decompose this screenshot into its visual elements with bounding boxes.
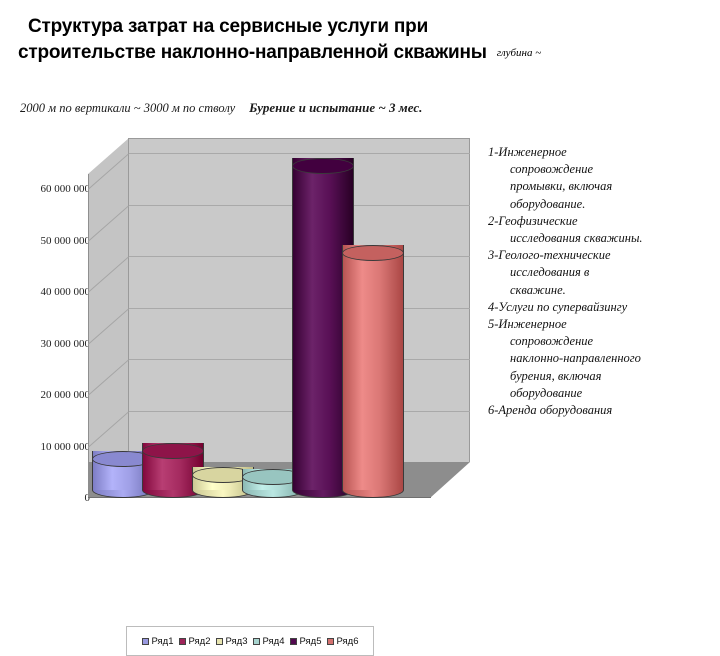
plot-area [88, 138, 470, 498]
subtitle-duration-text: Бурение и испытание ~ 3 мес. [235, 100, 422, 115]
note-line-14: бурения, включая [488, 368, 720, 385]
note-line-16: 6-Аренда оборудования [488, 402, 720, 419]
note-line-12: сопровождение [488, 333, 720, 350]
note-line-9: скважине. [488, 282, 720, 299]
page-title-text-2: строительстве наклонно-направленной сква… [18, 42, 487, 63]
note-line-15: оборудование [488, 385, 720, 402]
bar-body-6 [342, 245, 404, 490]
legend-label-4: Ряд4 [263, 636, 285, 647]
note-line-13: наклонно-направленного [488, 350, 720, 367]
note-line-6: исследования скважины. [488, 230, 720, 247]
legend-swatch-icon-5 [290, 638, 297, 645]
note-line-2: сопровождение [488, 161, 720, 178]
y-axis-tick-1: 10 000 000 [0, 441, 90, 453]
bar-6[interactable] [342, 245, 404, 498]
note-line-5: 2-Геофизические [488, 213, 720, 230]
y-axis-tick-2: 20 000 000 [0, 389, 90, 401]
legend-label-1: Ряд1 [152, 636, 174, 647]
note-line-7: 3-Геолого-технические [488, 247, 720, 264]
note-line-8: исследования в [488, 264, 720, 281]
note-line-4: оборудование. [488, 196, 720, 213]
chart-legend[interactable]: Ряд1Ряд2Ряд3Ряд4Ряд5Ряд6 [126, 626, 374, 656]
legend-item-6[interactable]: Ряд6 [327, 636, 359, 647]
legend-label-2: Ряд2 [189, 636, 211, 647]
legend-item-3[interactable]: Ряд3 [216, 636, 248, 647]
legend-swatch-icon-1 [142, 638, 149, 645]
chart-side-wall [88, 138, 129, 462]
page-title-line-2: строительстве наклонно-направленной сква… [0, 40, 720, 66]
page-title-text-1: Структура затрат на сервисные услуги при [28, 16, 428, 37]
y-axis-tick-0: 0 [0, 492, 90, 504]
subtitle-depth-text: 2000 м по вертикали ~ 3000 м по стволу [20, 101, 235, 115]
legend-label-5: Ряд5 [300, 636, 322, 647]
legend-swatch-icon-3 [216, 638, 223, 645]
legend-swatch-icon-2 [179, 638, 186, 645]
note-line-11: 5-Инженерное [488, 316, 720, 333]
legend-swatch-icon-6 [327, 638, 334, 645]
note-line-1: 1-Инженерное [488, 144, 720, 161]
chart-side-edge [88, 174, 89, 462]
gridline-6 [129, 153, 470, 154]
y-axis-tick-6: 60 000 000 [0, 183, 90, 195]
title-block: Структура затрат на сервисные услуги при… [0, 14, 720, 66]
y-axis-tick-labels: 010 000 00020 000 00030 000 00040 000 00… [0, 138, 90, 538]
bar-top-cap-5 [292, 158, 354, 174]
page-title-line-1: Структура затрат на сервисные услуги при [0, 14, 720, 40]
legend-item-4[interactable]: Ряд4 [253, 636, 285, 647]
legend-label-6: Ряд6 [337, 636, 359, 647]
legend-item-5[interactable]: Ряд5 [290, 636, 322, 647]
legend-swatch-icon-4 [253, 638, 260, 645]
subtitle: 2000 м по вертикали ~ 3000 м по стволуБу… [20, 100, 710, 116]
note-line-3: промывки, включая [488, 178, 720, 195]
y-axis-tick-5: 50 000 000 [0, 235, 90, 247]
legend-item-2[interactable]: Ряд2 [179, 636, 211, 647]
legend-label-3: Ряд3 [226, 636, 248, 647]
legend-item-1[interactable]: Ряд1 [142, 636, 174, 647]
y-axis-tick-4: 40 000 000 [0, 286, 90, 298]
note-line-10: 4-Услуги по супервайзингу [488, 299, 720, 316]
cost-structure-chart: 010 000 00020 000 00030 000 00040 000 00… [0, 138, 470, 538]
legend-notes-list: 1-Инженерноесопровождениепромывки, включ… [488, 144, 720, 419]
y-axis-tick-3: 30 000 000 [0, 338, 90, 350]
page-title-tail: глубина ~ [487, 47, 541, 59]
